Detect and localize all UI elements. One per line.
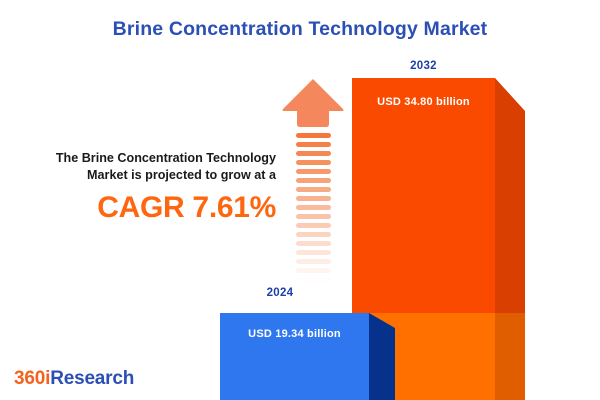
up-arrow-icon [281,78,345,290]
bar-2032-year-label: 2032 [352,60,495,72]
arrow-rung [296,241,331,246]
brand-logo-prefix: 360i [14,368,50,389]
arrow-rung [296,250,331,255]
arrow-rung [296,196,331,201]
arrow-rung [296,160,331,165]
arrow-rung [296,286,331,291]
arrow-rung [296,232,331,237]
cagr-description: The Brine Concentration Technology Marke… [28,150,276,184]
arrow-rung [296,133,331,138]
bar-2032-value-label: USD 34.80 billion [352,96,495,108]
bar-2032-side-face-lower [495,313,525,400]
brand-logo: 360iResearch [14,368,134,390]
bar-2024-side-face [369,313,395,400]
arrow-rung [296,268,331,273]
brand-logo-suffix: Research [50,368,134,389]
cagr-callout: The Brine Concentration Technology Marke… [28,150,276,225]
bar-2024-value-label: USD 19.34 billion [220,328,369,340]
arrow-rung [296,151,331,156]
arrow-rung [296,223,331,228]
arrow-rung [296,205,331,210]
arrow-gradient-rungs [296,133,331,290]
arrow-rung [296,259,331,264]
arrow-rung [296,178,331,183]
infographic-canvas: Brine Concentration Technology Market 20… [0,0,600,400]
bar-2024-front-face [220,313,369,400]
cagr-value: CAGR 7.61% [28,191,276,225]
arrow-rung [296,169,331,174]
arrow-rung [296,277,331,282]
arrow-rung [296,214,331,219]
arrow-rung [296,187,331,192]
arrow-rung [296,142,331,147]
up-arrow-head-icon [281,78,345,131]
